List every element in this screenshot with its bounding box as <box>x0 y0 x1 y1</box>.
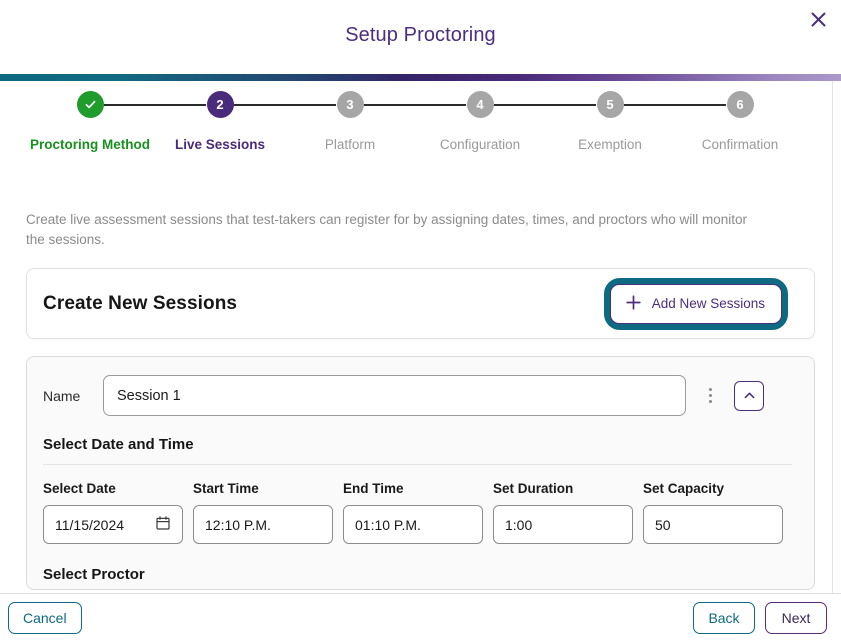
setup-proctoring-modal: Setup Proctoring Proctoring Method 2 Liv… <box>0 0 841 641</box>
step-circle-3: 3 <box>337 91 364 118</box>
chevron-up-icon[interactable] <box>734 381 764 411</box>
step-circle-6: 6 <box>727 91 754 118</box>
field-label-set-duration: Set Duration <box>493 481 633 496</box>
stepper-connector <box>494 104 596 106</box>
vertical-scrollbar[interactable] <box>832 81 833 593</box>
stepper-step-proctoring-method[interactable]: Proctoring Method <box>25 81 155 155</box>
start-time-value: 12:10 P.M. <box>205 517 271 533</box>
progress-stepper: Proctoring Method 2 Live Sessions 3 Plat… <box>0 81 841 191</box>
stepper-step-exemption[interactable]: 5 Exemption <box>545 81 675 155</box>
close-icon[interactable] <box>803 4 833 34</box>
set-duration-value: 1:00 <box>505 517 532 533</box>
select-proctor-heading: Select Proctor <box>43 566 792 583</box>
step-circle-5: 5 <box>597 91 624 118</box>
add-new-sessions-label: Add New Sessions <box>652 296 765 311</box>
stepper-connector <box>364 104 466 106</box>
step-label-2: Live Sessions <box>155 134 285 155</box>
field-select-date: Select Date 11/15/2024 <box>43 481 183 544</box>
step-label-6: Confirmation <box>675 134 805 155</box>
add-new-sessions-button[interactable]: Add New Sessions <box>610 284 782 324</box>
session-name-row: Name <box>43 375 792 416</box>
field-set-duration: Set Duration 1:00 <box>493 481 633 544</box>
session-card: Name Select Date and Time Select Date <box>26 356 815 590</box>
next-button[interactable]: Next <box>765 602 827 634</box>
plus-icon <box>625 294 642 314</box>
date-time-fields: Select Date 11/15/2024 Start T <box>43 481 792 544</box>
panel-title: Create New Sessions <box>43 293 237 315</box>
modal-footer: Cancel Back Next <box>0 593 841 641</box>
step-label-3: Platform <box>285 134 415 155</box>
cancel-button[interactable]: Cancel <box>8 602 82 634</box>
stepper-step-confirmation[interactable]: 6 Confirmation <box>675 81 805 155</box>
start-time-input[interactable]: 12:10 P.M. <box>193 505 333 544</box>
stepper-connector <box>104 104 206 106</box>
field-start-time: Start Time 12:10 P.M. <box>193 481 333 544</box>
intro-text: Create live assessment sessions that tes… <box>26 210 763 250</box>
end-time-value: 01:10 P.M. <box>355 517 421 533</box>
stepper-step-configuration[interactable]: 4 Configuration <box>415 81 545 155</box>
field-label-end-time: End Time <box>343 481 483 496</box>
step-label-1: Proctoring Method <box>25 134 155 155</box>
kebab-dot <box>709 400 712 403</box>
step-circle-4: 4 <box>467 91 494 118</box>
modal-header: Setup Proctoring <box>0 0 841 74</box>
gradient-divider <box>0 74 841 81</box>
more-vertical-icon[interactable] <box>690 388 730 403</box>
select-date-time-heading: Select Date and Time <box>43 436 792 453</box>
step-label-5: Exemption <box>545 134 675 155</box>
field-end-time: End Time 01:10 P.M. <box>343 481 483 544</box>
stepper-step-platform[interactable]: 3 Platform <box>285 81 415 155</box>
footer-actions: Back Next <box>693 602 827 634</box>
set-capacity-value: 50 <box>655 517 671 533</box>
field-label-start-time: Start Time <box>193 481 333 496</box>
field-label-set-capacity: Set Capacity <box>643 481 783 496</box>
stepper-connector <box>624 104 726 106</box>
page-title: Setup Proctoring <box>0 24 841 47</box>
step-label-4: Configuration <box>415 134 545 155</box>
step-circle-2: 2 <box>207 91 234 118</box>
calendar-icon[interactable] <box>155 515 171 534</box>
end-time-input[interactable]: 01:10 P.M. <box>343 505 483 544</box>
session-name-label: Name <box>43 388 103 404</box>
stepper-connector <box>234 104 336 106</box>
add-new-sessions-focus-ring: Add New Sessions <box>604 278 788 330</box>
kebab-dot <box>709 388 712 391</box>
kebab-dot <box>709 394 712 397</box>
stepper-step-live-sessions[interactable]: 2 Live Sessions <box>155 81 285 155</box>
field-set-capacity: Set Capacity 50 <box>643 481 783 544</box>
select-date-value: 11/15/2024 <box>55 517 124 533</box>
modal-body: Create live assessment sessions that tes… <box>0 196 841 593</box>
set-capacity-input[interactable]: 50 <box>643 505 783 544</box>
section-divider <box>43 464 792 465</box>
session-name-input[interactable] <box>103 375 686 416</box>
select-date-input[interactable]: 11/15/2024 <box>43 505 183 544</box>
set-duration-input[interactable]: 1:00 <box>493 505 633 544</box>
field-label-select-date: Select Date <box>43 481 183 496</box>
create-new-sessions-panel: Create New Sessions Add New Sessions <box>26 268 815 339</box>
step-circle-1 <box>77 91 104 118</box>
back-button[interactable]: Back <box>693 602 755 634</box>
